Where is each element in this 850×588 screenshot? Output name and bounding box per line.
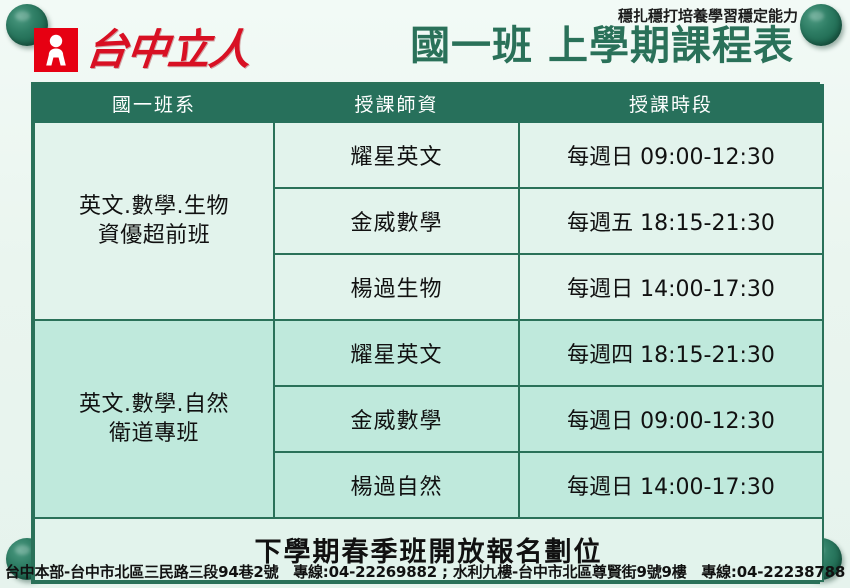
table-header-row: 國一班系 授課師資 授課時段 bbox=[34, 85, 823, 122]
time-cell: 每週四 18:15-21:30 bbox=[519, 320, 823, 386]
time-cell: 每週日 14:00-17:30 bbox=[519, 254, 823, 320]
group-name-line1: 英文.數學.自然 bbox=[79, 392, 229, 417]
column-header-class: 國一班系 bbox=[34, 85, 274, 122]
table-row: 英文.數學.生物 資優超前班 耀星英文 每週日 09:00-12:30 bbox=[34, 122, 823, 188]
teacher-cell: 耀星英文 bbox=[274, 320, 519, 386]
group-name-cell-1: 英文.數學.生物 資優超前班 bbox=[34, 122, 274, 320]
time-cell: 每週日 14:00-17:30 bbox=[519, 452, 823, 518]
teacher-cell: 楊過自然 bbox=[274, 452, 519, 518]
teacher-cell: 金威數學 bbox=[274, 188, 519, 254]
group-name-line2: 衛道專班 bbox=[109, 421, 199, 446]
time-cell: 每週五 18:15-21:30 bbox=[519, 188, 823, 254]
table-row: 英文.數學.自然 衛道專班 耀星英文 每週四 18:15-21:30 bbox=[34, 320, 823, 386]
poster-header: 台中立人 穩扎穩打培養學習穩定能力 國一班 上學期課程表 bbox=[0, 0, 850, 84]
column-header-teacher: 授課師資 bbox=[274, 85, 519, 122]
group-name-line1: 英文.數學.生物 bbox=[79, 194, 229, 219]
group-name-line2: 資優超前班 bbox=[98, 223, 211, 248]
person-mark-icon bbox=[34, 28, 78, 72]
teacher-cell: 金威數學 bbox=[274, 386, 519, 452]
group-name-cell-2: 英文.數學.自然 衛道專班 bbox=[34, 320, 274, 518]
teacher-cell: 耀星英文 bbox=[274, 122, 519, 188]
teacher-cell: 楊過生物 bbox=[274, 254, 519, 320]
column-header-time: 授課時段 bbox=[519, 85, 823, 122]
contact-bar: 台中本部-台中市北區三民路三段94巷2號 專線:04-22269882 ; 水利… bbox=[0, 561, 850, 582]
time-cell: 每週日 09:00-12:30 bbox=[519, 386, 823, 452]
time-cell: 每週日 09:00-12:30 bbox=[519, 122, 823, 188]
brand-name: 台中立人 bbox=[84, 29, 252, 71]
poster-root: 台中立人 穩扎穩打培養學習穩定能力 國一班 上學期課程表 國一班系 授課師資 授… bbox=[0, 0, 850, 588]
page-title: 國一班 上學期課程表 bbox=[410, 24, 794, 68]
brand-logo: 台中立人 bbox=[34, 28, 250, 72]
schedule-table: 國一班系 授課師資 授課時段 英文.數學.生物 資優超前班 耀星英文 每週日 0… bbox=[31, 82, 820, 584]
